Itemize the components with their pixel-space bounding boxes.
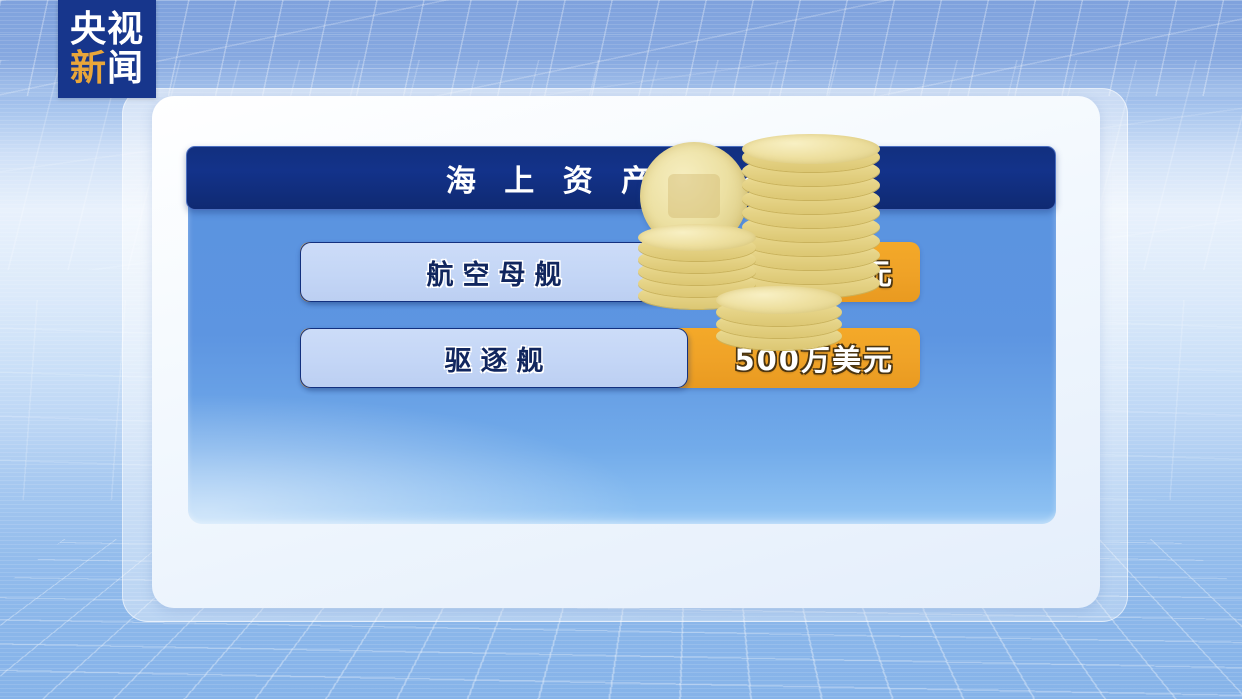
logo-char-xin: 新	[70, 51, 107, 87]
label-pill: 航空母舰	[300, 242, 688, 302]
cctv-news-logo: 央视 新 闻	[58, 0, 156, 98]
table-row[interactable]: 600万美元 航空母舰	[188, 242, 1056, 306]
broadcast-graphic-stage: 央视 新 闻 海 上 资 产 （每日花费）	[0, 0, 1242, 699]
row-label: 航空母舰	[418, 253, 571, 292]
data-rows: 600万美元 航空母舰 500万美元 驱逐舰	[188, 180, 1056, 524]
gold-coin-stacks	[640, 128, 880, 344]
logo-line-xinwen: 新 闻	[70, 51, 144, 87]
logo-line-yangshi: 央视	[70, 12, 144, 48]
label-pill: 驱逐舰	[300, 328, 688, 388]
row-label: 驱逐舰	[436, 339, 553, 378]
table-row[interactable]: 500万美元 驱逐舰	[188, 328, 1056, 392]
logo-char-wen: 闻	[107, 51, 144, 87]
